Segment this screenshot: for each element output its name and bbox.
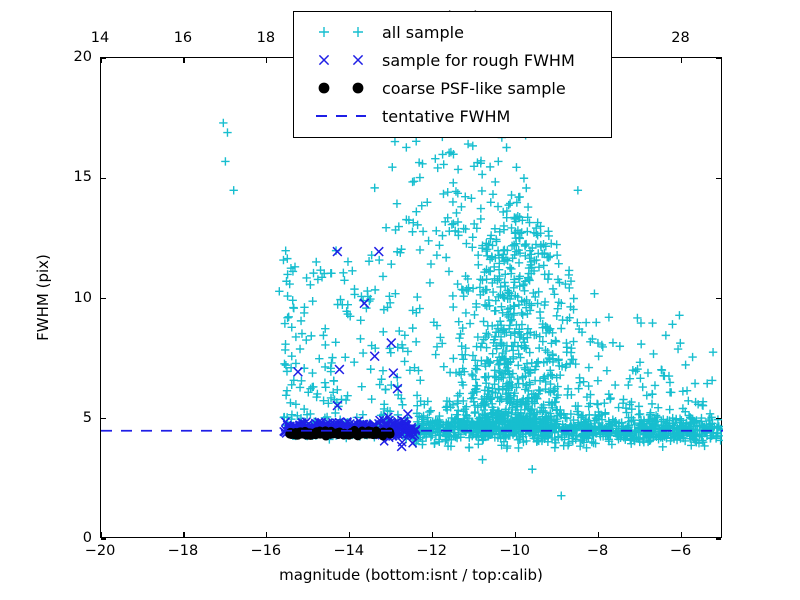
x-tick-label-bottom: −18 [168,543,199,559]
tick-mark [101,178,106,179]
legend-box: all samplesample for rough FWHMcoarse PS… [293,11,612,138]
x-tick-label-top: 18 [257,30,275,46]
tick-mark [101,418,106,419]
y-tick-label: 10 [58,290,92,306]
legend-item[interactable]: sample for rough FWHM [304,46,601,74]
y-tick-label: 15 [58,169,92,185]
series-coarse-psf [285,426,394,441]
tick-mark [349,532,350,537]
y-tick-label: 20 [58,49,92,65]
tick-mark [432,532,433,537]
figure-canvas: FWHM vs magnitudes −20−18−16−14−12−10−8−… [0,0,800,600]
tick-mark [101,57,106,58]
tick-mark [681,58,682,63]
legend-label: all sample [378,23,464,42]
x-tick-label-top: 28 [671,30,689,46]
tick-mark [101,538,106,539]
x-axis-label: magnitude (bottom:isnt / top:calib) [100,566,722,584]
tick-mark [681,532,682,537]
legend-label: coarse PSF-like sample [378,79,566,98]
y-axis-label: FWHM (pix) [34,57,52,538]
tick-mark [716,538,721,539]
tick-mark [716,57,721,58]
cross-icon [304,48,378,72]
y-tick-label: 5 [58,410,92,426]
x-tick-label-top: 16 [174,30,192,46]
plus-icon [304,20,378,44]
x-tick-label-bottom: −14 [333,543,364,559]
tick-mark [598,532,599,537]
tick-mark [515,532,516,537]
tick-mark [100,58,101,63]
legend-item[interactable]: tentative FWHM [304,102,601,130]
legend-item[interactable]: all sample [304,18,601,46]
dot-icon [304,76,378,100]
y-tick-label: 0 [58,530,92,546]
tick-mark [266,532,267,537]
x-tick-label-bottom: −8 [587,543,608,559]
legend-label: sample for rough FWHM [378,51,575,70]
tick-mark [183,532,184,537]
tick-mark [183,58,184,63]
x-tick-label-top: 14 [91,30,109,46]
tick-mark [266,58,267,63]
tick-mark [716,178,721,179]
x-tick-label-bottom: −10 [499,543,530,559]
tick-mark [716,418,721,419]
legend-label: tentative FWHM [378,107,510,126]
x-tick-label-bottom: −6 [670,543,691,559]
dashed-line-icon [304,104,378,128]
tick-mark [100,532,101,537]
tick-mark [716,298,721,299]
legend-item[interactable]: coarse PSF-like sample [304,74,601,102]
x-tick-label-bottom: −16 [251,543,282,559]
tick-mark [101,298,106,299]
x-tick-label-bottom: −12 [416,543,447,559]
